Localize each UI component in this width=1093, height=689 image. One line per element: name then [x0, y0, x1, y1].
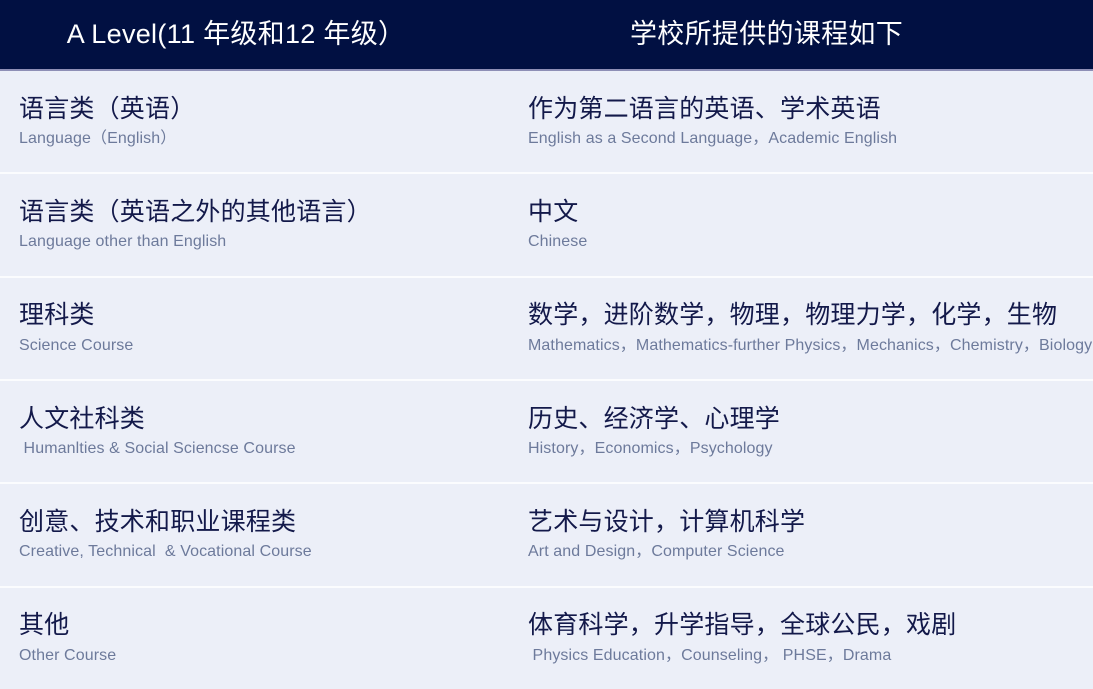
course-list-en: Physics Education，Counseling， PHSE，Drama — [528, 646, 1089, 667]
cell-courses: 历史、经济学、心理学 History，Economics，Psychology — [520, 404, 1093, 460]
course-list-cn: 数学，进阶数学，物理，物理力学，化学，生物 — [528, 300, 1089, 331]
table-row: 语言类（英语之外的其他语言） Language other than Engli… — [0, 174, 1093, 277]
category-name-cn: 人文社科类 — [19, 404, 512, 435]
category-name-en: Science Course — [19, 336, 512, 357]
cell-courses: 数学，进阶数学，物理，物理力学，化学，生物 Mathematics，Mathem… — [520, 300, 1093, 356]
cell-category: 语言类（英语之外的其他语言） Language other than Engli… — [0, 197, 520, 253]
category-name-en: Language other than English — [19, 232, 512, 253]
course-list-cn: 体育科学，升学指导，全球公民，戏剧 — [528, 610, 1089, 641]
course-list-cn: 中文 — [528, 197, 1089, 228]
header-cell-courses: 学校所提供的课程如下 — [520, 21, 1093, 48]
table-row: 人文社科类 Humanlties & Social Sciencse Cours… — [0, 381, 1093, 484]
category-name-cn: 语言类（英语） — [19, 94, 512, 125]
course-list-en: Art and Design，Computer Science — [528, 542, 1089, 563]
category-name-en: Other Course — [19, 646, 512, 667]
cell-category: 其他 Other Course — [0, 610, 520, 666]
table-header-row: A Level(11 年级和12 年级） 学校所提供的课程如下 — [0, 0, 1093, 71]
category-name-en: Humanlties & Social Sciencse Course — [19, 439, 512, 460]
cell-courses: 中文 Chinese — [520, 197, 1093, 253]
category-name-cn: 其他 — [19, 610, 512, 641]
category-name-en: Language（English） — [19, 129, 512, 150]
course-list-cn: 艺术与设计，计算机科学 — [528, 507, 1089, 538]
course-list-cn: 作为第二语言的英语、学术英语 — [528, 94, 1089, 125]
header-cell-level: A Level(11 年级和12 年级） — [0, 21, 520, 48]
table-row: 创意、技术和职业课程类 Creative, Technical & Vocati… — [0, 484, 1093, 587]
cell-category: 创意、技术和职业课程类 Creative, Technical & Vocati… — [0, 507, 520, 563]
course-list-en: History，Economics，Psychology — [528, 439, 1089, 460]
table-body: 语言类（英语） Language（English） 作为第二语言的英语、学术英语… — [0, 71, 1093, 689]
course-list-en: English as a Second Language，Academic En… — [528, 129, 1089, 150]
table-row: 理科类 Science Course 数学，进阶数学，物理，物理力学，化学，生物… — [0, 278, 1093, 381]
cell-category: 语言类（英语） Language（English） — [0, 94, 520, 150]
category-name-cn: 创意、技术和职业课程类 — [19, 507, 512, 538]
course-list-cn: 历史、经济学、心理学 — [528, 404, 1089, 435]
category-name-cn: 语言类（英语之外的其他语言） — [19, 197, 512, 228]
course-list-en: Mathematics，Mathematics-further Physics，… — [528, 336, 1089, 357]
category-name-en: Creative, Technical & Vocational Course — [19, 542, 512, 563]
category-name-cn: 理科类 — [19, 300, 512, 331]
cell-category: 理科类 Science Course — [0, 300, 520, 356]
cell-courses: 艺术与设计，计算机科学 Art and Design，Computer Scie… — [520, 507, 1093, 563]
cell-courses: 体育科学，升学指导，全球公民，戏剧 Physics Education，Coun… — [520, 610, 1093, 666]
table-row: 其他 Other Course 体育科学，升学指导，全球公民，戏剧 Physic… — [0, 588, 1093, 689]
table-row: 语言类（英语） Language（English） 作为第二语言的英语、学术英语… — [0, 71, 1093, 174]
course-list-en: Chinese — [528, 232, 1089, 253]
course-offering-table: A Level(11 年级和12 年级） 学校所提供的课程如下 语言类（英语） … — [0, 0, 1093, 689]
cell-courses: 作为第二语言的英语、学术英语 English as a Second Langu… — [520, 94, 1093, 150]
cell-category: 人文社科类 Humanlties & Social Sciencse Cours… — [0, 404, 520, 460]
